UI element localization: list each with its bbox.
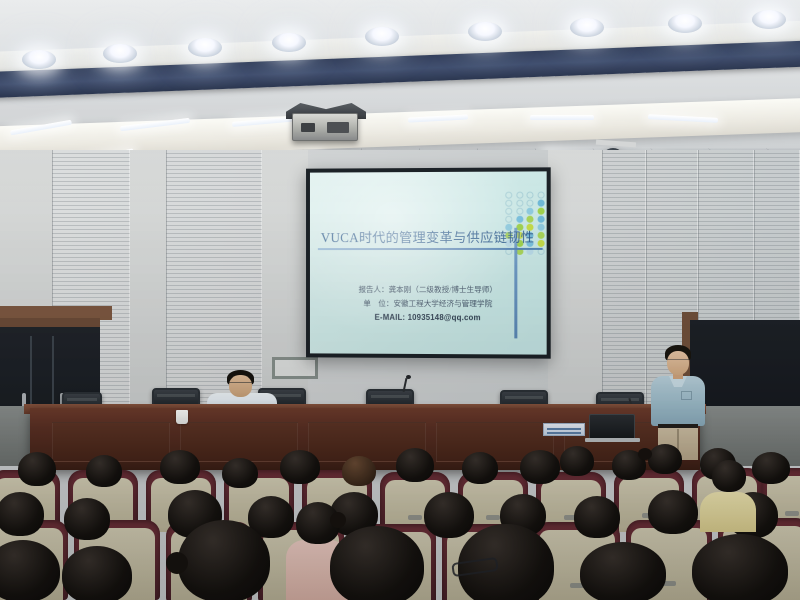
strip-light-icon [530,115,594,120]
audience-member [342,456,376,486]
audience-member [330,526,424,600]
downlight-icon [365,27,399,46]
audience-member [712,460,746,492]
hair-bun [638,448,652,460]
slide-affiliation-line: 单 位：安徽工程大学经济与管理学院 [310,298,547,310]
audience-member [396,448,434,482]
audience-member [580,542,666,600]
standing-presenter [645,345,709,460]
slide-title-underline [318,248,543,250]
glasses-icon [667,359,689,364]
slide-presenter-line: 报告人：龚本刚（二级教授/博士生导师） [310,284,547,295]
slide-title: VUCA时代的管理变革与供应链韧性 [321,227,512,246]
audience-member [424,492,474,538]
laptop[interactable] [589,414,635,440]
downlight-icon [570,18,604,37]
ceiling-projector-icon [292,113,358,141]
audience-member [560,446,594,476]
lecture-hall-photo: VUCA时代的管理变革与供应链韧性 报告人：龚本刚（二级教授/博士生导师） 单 … [0,0,800,600]
shirt-pocket [681,391,692,400]
audience-member [62,546,132,600]
audience-member [160,450,200,484]
downlight-icon [22,50,56,69]
table-panel [180,422,298,462]
audience-member [86,455,122,487]
paper-cup [176,410,188,424]
audience-member [222,458,258,488]
audience-member-jacket [700,492,756,532]
audience-member [18,452,56,486]
audience-member [574,496,620,538]
name-placard [543,423,585,436]
microphone-head-icon [406,375,411,379]
downlight-icon [188,38,222,57]
projection-screen[interactable]: VUCA时代的管理变革与供应链韧性 报告人：龚本刚（二级教授/博士生导师） 单 … [310,171,547,354]
audience-member [648,490,698,534]
downlight-icon [752,10,786,29]
host-head [229,375,252,397]
downlight-icon [272,33,306,52]
audience-member [64,498,110,540]
audience-member [520,450,560,484]
hair-bun [330,512,346,528]
belt [658,424,698,428]
hair-bun [166,552,188,574]
projection-screen-frame: VUCA时代的管理变革与供应链韧性 报告人：龚本刚（二级教授/博士生导师） 单 … [306,167,551,358]
downlight-icon [103,44,137,63]
audience-member [692,534,788,600]
audience-member [462,452,498,484]
downlight-icon [468,22,502,41]
audience-member [752,452,790,484]
audience-member [280,450,320,484]
audience-member [648,444,682,474]
slide-email-line: E-MAIL: 10935148@qq.com [310,313,547,323]
laptop-base [585,438,640,442]
audience-member [178,520,270,600]
downlight-icon [668,14,702,33]
audience-member [0,492,44,536]
glasses-icon [229,382,252,386]
